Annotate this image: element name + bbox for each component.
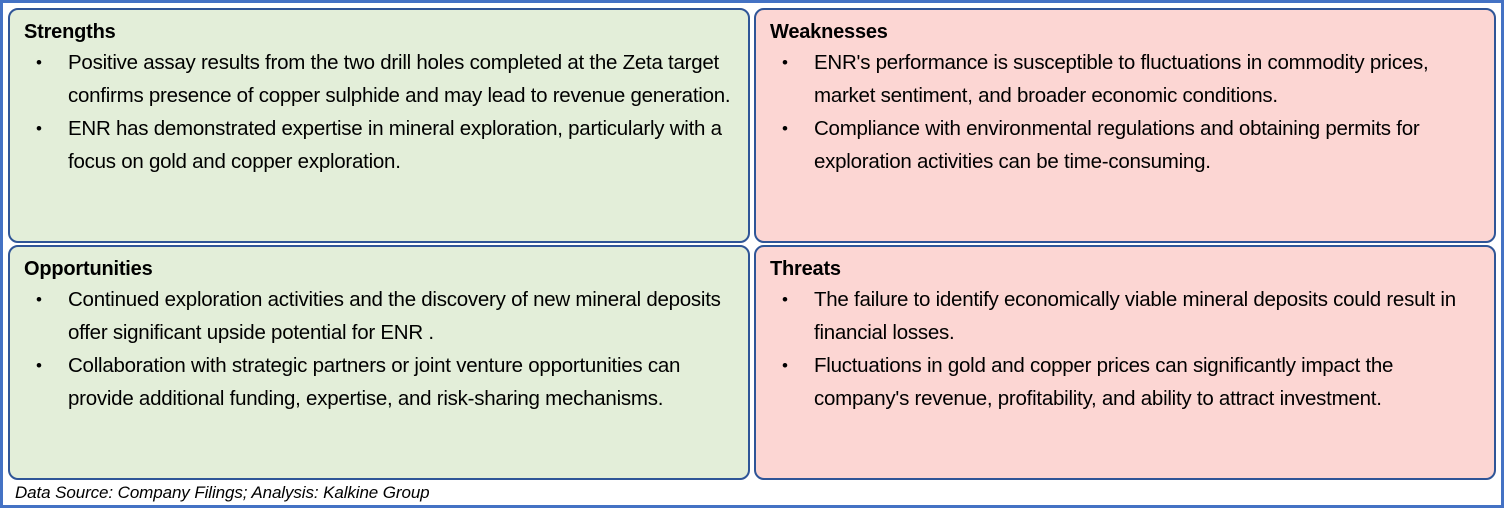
bullet-list-weaknesses: • ENR's performance is susceptible to fl… [768,46,1480,178]
list-item: • ENR has demonstrated expertise in mine… [22,112,734,178]
bullet-list-opportunities: • Continued exploration activities and t… [22,283,734,415]
bullet-list-threats: • The failure to identify economically v… [768,283,1480,415]
bullet-dot-icon: • [782,46,792,79]
list-item: • ENR's performance is susceptible to fl… [768,46,1480,112]
swot-quadrant-opportunities: Opportunities • Continued exploration ac… [8,245,750,480]
quadrant-title-opportunities: Opportunities [24,256,734,282]
bullet-list-strengths: • Positive assay results from the two dr… [22,46,734,178]
list-item: • Compliance with environmental regulati… [768,112,1480,178]
bullet-dot-icon: • [36,349,46,382]
swot-analysis-figure: Strengths • Positive assay results from … [0,0,1504,508]
list-item-text: ENR's performance is susceptible to fluc… [814,51,1428,107]
list-item-text: Continued exploration activities and the… [68,288,721,344]
list-item: • The failure to identify economically v… [768,283,1480,349]
list-item: • Collaboration with strategic partners … [22,349,734,415]
quadrant-title-strengths: Strengths [24,19,734,45]
list-item: • Continued exploration activities and t… [22,283,734,349]
list-item-text: Positive assay results from the two dril… [68,51,730,107]
swot-quadrant-threats: Threats • The failure to identify econom… [754,245,1496,480]
swot-quadrant-strengths: Strengths • Positive assay results from … [8,8,750,243]
list-item-text: Fluctuations in gold and copper prices c… [814,354,1393,410]
list-item: • Fluctuations in gold and copper prices… [768,349,1480,415]
bullet-dot-icon: • [36,46,46,79]
data-source-note: Data Source: Company Filings; Analysis: … [15,483,430,503]
bullet-dot-icon: • [36,112,46,145]
list-item: • Positive assay results from the two dr… [22,46,734,112]
quadrant-title-threats: Threats [770,256,1480,282]
list-item-text: Collaboration with strategic partners or… [68,354,680,410]
swot-quadrant-weaknesses: Weaknesses • ENR's performance is suscep… [754,8,1496,243]
list-item-text: ENR has demonstrated expertise in minera… [68,117,722,173]
bullet-dot-icon: • [782,349,792,382]
list-item-text: Compliance with environmental regulation… [814,117,1419,173]
bullet-dot-icon: • [782,112,792,145]
swot-quadrant-grid: Strengths • Positive assay results from … [8,8,1496,480]
bullet-dot-icon: • [782,283,792,316]
quadrant-title-weaknesses: Weaknesses [770,19,1480,45]
bullet-dot-icon: • [36,283,46,316]
list-item-text: The failure to identify economically via… [814,288,1456,344]
